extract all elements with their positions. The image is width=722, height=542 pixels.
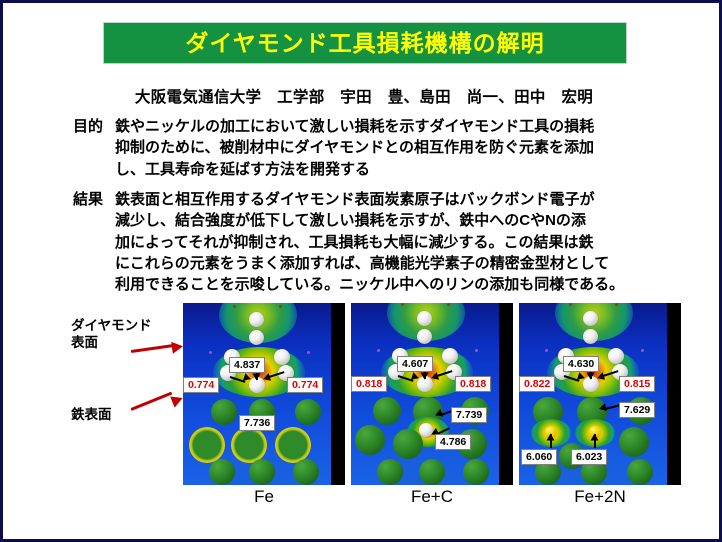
marker-dot <box>641 349 644 352</box>
panel-captions: Fe Fe+C Fe+2N <box>183 487 681 515</box>
measure-arrow-icon <box>431 370 453 380</box>
arrow-head <box>434 409 443 419</box>
section-result-label: 結果 <box>73 189 115 210</box>
value-callout: 7.739 <box>451 407 487 423</box>
section-purpose-label: 目的 <box>73 116 115 137</box>
caption-fe-c: Fe+C <box>351 487 513 515</box>
iron-atom <box>249 459 275 485</box>
arrow-shaft <box>269 371 285 378</box>
value-callout: 4.837 <box>229 357 265 373</box>
marker-dot <box>545 349 548 352</box>
marker-dot <box>209 351 212 354</box>
value-callout: 4.786 <box>435 434 471 450</box>
section-result-line-5: 利用できることを示唆している。ニッケル中へのリンの添加も同様である。 <box>115 274 721 295</box>
measure-arrow-icon <box>263 371 285 381</box>
authors-line: 大阪電気通信大学 工学部 宇田 豊、島田 尚一、田中 宏明 <box>3 85 722 107</box>
arrow-shaft <box>437 370 453 377</box>
iron-atom <box>211 399 237 425</box>
value-callout: 4.630 <box>563 356 599 372</box>
section-result-line-3: 加によってそれが抑制され、工具損耗も大幅に減少する。この結果は鉄 <box>115 232 721 253</box>
density-peak-dot <box>615 303 618 306</box>
arrow-to-diamond-surface-icon <box>131 343 183 357</box>
panel-fe-density-map: 4.837 0.774 0.774 7.736 <box>183 303 331 485</box>
marker-dot <box>377 349 380 352</box>
value-callout: 4.607 <box>397 356 433 372</box>
slide-title-bar: ダイヤモンド工具損耗機構の解明 <box>103 22 627 64</box>
arrow-head <box>171 340 184 353</box>
iron-atom <box>627 459 653 485</box>
arrow-head <box>598 403 607 412</box>
section-result-body: 鉄表面と相互作用するダイヤモンド表面炭素原子はバックボンド電子が 減少し、結合強… <box>115 189 721 295</box>
section-purpose-body: 鉄やニッケルの加工において激しい損耗を示すダイヤモンド工具の損耗 抑制のために、… <box>115 116 713 180</box>
section-result-line-2: 減少し、結合強度が低下して激しい損耗を示すが、鉄中へのCやNの添 <box>115 210 721 231</box>
carbon-atom <box>249 330 264 345</box>
value-callout: 0.822 <box>519 376 555 392</box>
value-callout: 0.818 <box>455 376 491 392</box>
value-callout: 6.023 <box>571 449 607 465</box>
carbon-atom <box>249 312 264 327</box>
density-peak-dot <box>401 303 404 306</box>
iron-atom <box>419 459 445 485</box>
carbon-atom <box>583 329 598 344</box>
panel-fe-c-density-map: 4.607 0.818 0.818 7.739 4.786 <box>351 303 499 485</box>
section-purpose: 目的 鉄やニッケルの加工において激しい損耗を示すダイヤモンド工具の損耗 抑制のた… <box>73 116 713 180</box>
density-peak-dot <box>279 305 282 308</box>
page-title: ダイヤモンド工具損耗機構の解明 <box>185 32 544 55</box>
value-callout: 0.815 <box>619 376 655 392</box>
arrow-head <box>591 434 599 441</box>
arrow-to-iron-surface-icon <box>131 401 183 415</box>
arrow-head <box>547 434 555 441</box>
value-callout: 0.818 <box>351 376 387 392</box>
caption-fe-2n: Fe+2N <box>519 487 681 515</box>
carbon-atom <box>274 349 290 365</box>
arrow-head <box>253 374 261 381</box>
iron-atom <box>209 459 235 485</box>
panel-fe: 4.837 0.774 0.774 7.736 <box>183 303 345 485</box>
arrow-shaft <box>603 370 619 377</box>
carbon-atom <box>583 311 598 326</box>
simulation-panels: 4.837 0.774 0.774 7.736 <box>183 303 681 485</box>
carbon-atom <box>417 329 432 344</box>
value-callout: 6.060 <box>521 449 557 465</box>
iron-atom <box>295 399 321 425</box>
section-result: 結果 鉄表面と相互作用するダイヤモンド表面炭素原子はバックボンド電子が 減少し、… <box>73 189 721 295</box>
value-callout: 0.774 <box>183 377 219 393</box>
iron-atom <box>377 459 403 485</box>
iron-atom <box>463 459 489 485</box>
iron-atom <box>373 397 401 425</box>
density-peak-dot <box>569 303 572 306</box>
iron-atom <box>355 425 385 455</box>
label-diamond-surface-line-1: ダイヤモンド <box>71 318 152 335</box>
iron-atom <box>619 427 649 457</box>
iron-atom <box>189 427 225 463</box>
section-purpose-line-2: 抑制のために、被削材中にダイヤモンドとの相互作用を防ぐ元素を添加 <box>115 137 713 158</box>
panel-fe-c: 4.607 0.818 0.818 7.739 4.786 <box>351 303 513 485</box>
measure-arrow-icon <box>597 370 619 380</box>
carbon-atom <box>442 348 458 364</box>
marker-dot <box>475 349 478 352</box>
iron-atom <box>275 427 311 463</box>
arrow-shaft <box>130 392 172 411</box>
density-peak-dot <box>233 305 236 308</box>
section-result-line-1: 鉄表面と相互作用するダイヤモンド表面炭素原子はバックボンド電子が <box>115 189 721 210</box>
section-result-line-4: にこれらの元素をうまく添加すれば、高機能光学素子の精密金型材として <box>115 253 721 274</box>
carbon-atom <box>417 311 432 326</box>
arrow-head <box>587 373 595 380</box>
caption-fe: Fe <box>183 487 345 515</box>
iron-atom <box>393 429 423 459</box>
marker-dot <box>307 351 310 354</box>
section-purpose-line-3: し、工具寿命を延ばす方法を開発する <box>115 159 713 180</box>
panel-fe-2n-density-map: 4.630 0.822 0.815 7.629 6.060 6.023 <box>519 303 667 485</box>
arrow-head <box>421 373 429 380</box>
slide-canvas: ダイヤモンド工具損耗機構の解明 大阪電気通信大学 工学部 宇田 豊、島田 尚一、… <box>0 0 722 542</box>
carbon-atom <box>608 348 624 364</box>
iron-atom <box>231 427 267 463</box>
section-purpose-line-1: 鉄やニッケルの加工において激しい損耗を示すダイヤモンド工具の損耗 <box>115 116 713 137</box>
panel-fe-2n: 4.630 0.822 0.815 7.629 6.060 6.023 <box>519 303 681 485</box>
value-callout: 7.736 <box>239 415 275 431</box>
value-callout: 7.629 <box>619 402 655 418</box>
value-callout: 0.774 <box>287 377 323 393</box>
arrow-shaft <box>131 344 175 353</box>
label-iron-surface: 鉄表面 <box>71 407 112 424</box>
iron-atom <box>293 459 319 485</box>
density-peak-dot <box>447 303 450 306</box>
